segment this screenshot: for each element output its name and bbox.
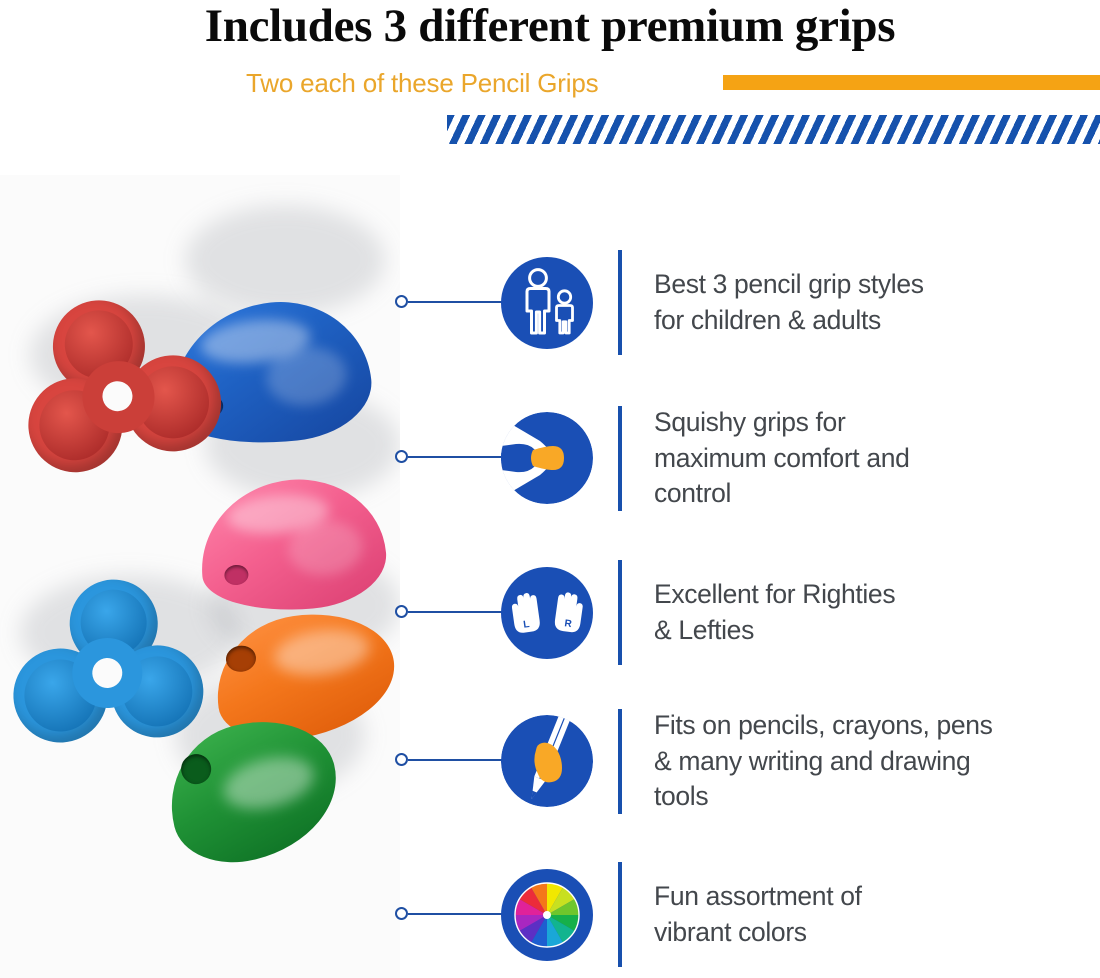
connector-stem bbox=[408, 301, 503, 303]
connector-stem bbox=[408, 611, 503, 613]
connector-line bbox=[392, 604, 500, 622]
pencil-with-grip-icon[interactable] bbox=[500, 714, 594, 808]
connector-stem bbox=[408, 759, 503, 761]
orange-accent-bar bbox=[723, 75, 1100, 90]
connector-dot bbox=[395, 753, 408, 766]
connector-line bbox=[392, 906, 500, 924]
gloss-highlight bbox=[218, 749, 319, 818]
photo-shadow bbox=[185, 205, 385, 315]
connector-stem bbox=[408, 913, 503, 915]
feature-divider bbox=[618, 709, 622, 814]
connector-stem bbox=[408, 456, 503, 458]
connector-dot bbox=[395, 605, 408, 618]
feature-label: Excellent for Righties & Lefties bbox=[654, 577, 1100, 648]
feature-list: Best 3 pencil grip styles for children &… bbox=[392, 240, 1100, 970]
product-photo bbox=[0, 175, 400, 978]
feature-row[interactable]: L R Excellent for Righties & Lefties bbox=[392, 560, 1100, 665]
connector-line bbox=[392, 752, 500, 770]
feature-label: Best 3 pencil grip styles for children &… bbox=[654, 267, 1100, 338]
connector-dot bbox=[395, 295, 408, 308]
connector-line bbox=[392, 294, 500, 312]
feature-divider bbox=[618, 250, 622, 355]
red-tripod-grip bbox=[14, 290, 226, 489]
light-blue-tripod-grip bbox=[6, 575, 210, 760]
page-title: Includes 3 different premium grips bbox=[0, 2, 1100, 51]
feature-row[interactable]: Best 3 pencil grip styles for children &… bbox=[392, 250, 1100, 355]
feature-divider bbox=[618, 560, 622, 665]
feature-row[interactable]: Fits on pencils, crayons, pens & many wr… bbox=[392, 708, 1100, 815]
connector-dot bbox=[395, 907, 408, 920]
header-banner: Includes 3 different premium grips Two e… bbox=[0, 0, 1100, 160]
feature-row[interactable]: Fun assortment of vibrant colors bbox=[392, 862, 1100, 967]
connector-line bbox=[392, 449, 500, 467]
feature-label: Fun assortment of vibrant colors bbox=[654, 879, 1100, 950]
color-wheel-icon[interactable] bbox=[500, 868, 594, 962]
gloss-highlight bbox=[271, 624, 372, 681]
grip-bore-hole bbox=[224, 564, 250, 586]
left-and-right-hands-icon[interactable]: L R bbox=[500, 566, 594, 660]
feature-row[interactable]: Squishy grips for maximum comfort and co… bbox=[392, 405, 1100, 512]
adult-and-child-icon[interactable] bbox=[500, 256, 594, 350]
feature-label: Fits on pencils, crayons, pens & many wr… bbox=[654, 708, 1100, 815]
connector-dot bbox=[395, 450, 408, 463]
feature-divider bbox=[618, 862, 622, 967]
feature-divider bbox=[618, 406, 622, 511]
blue-diagonal-stripe-band bbox=[447, 115, 1100, 144]
feature-label: Squishy grips for maximum comfort and co… bbox=[654, 405, 1100, 512]
page-subtitle: Two each of these Pencil Grips bbox=[246, 68, 598, 99]
squeezing-hand-grip-icon[interactable] bbox=[500, 411, 594, 505]
